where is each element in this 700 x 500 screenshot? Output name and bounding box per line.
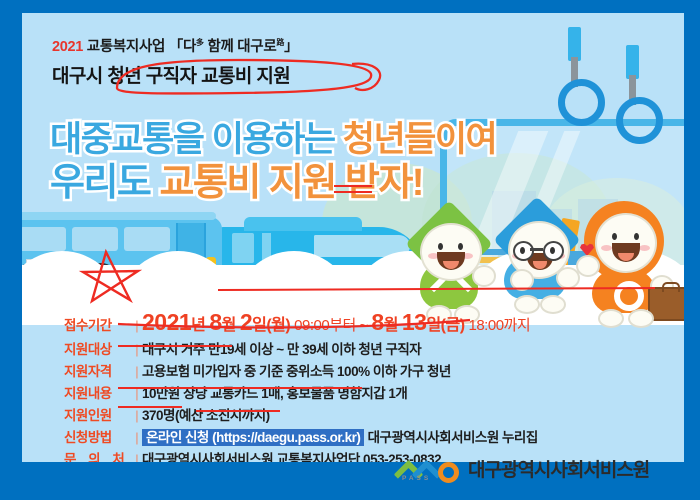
date-part: 09:00부터 ~	[294, 317, 371, 334]
date-part: 8	[371, 309, 383, 335]
info-row-value: 2021년 8월 2일(월) 09:00부터 ~ 8월 13일(금) 18:00…	[142, 309, 530, 336]
subtitle-prefix: 대구시	[52, 66, 107, 87]
glasses-icon	[510, 241, 566, 257]
info-row-label: 지원인원	[64, 404, 132, 424]
info-row-label: 지원대상	[64, 338, 132, 358]
info-row: 신청방법|온라인 신청 (https://daegu.pass.or.kr) 대…	[64, 426, 680, 446]
info-row: 지원대상|대구시 거주 만19세 이상 ~ 만 39세 이하 청년 구직자	[64, 338, 680, 358]
application-link-suffix: 대구광역시사회서비스원 누리집	[364, 430, 537, 445]
org-logo: PASS 대구광역시사회서비스원	[398, 455, 649, 482]
date-part: 일(월)	[252, 317, 294, 334]
info-row: 지원자격|고용보험 미가입자 중 기준 중위소득 100% 이하 가구 청년	[64, 360, 680, 380]
date-part: 월	[384, 317, 402, 334]
headline-block: 2021 교통복지사업 「다多 함께 대구로路」 대구시 청년 구직자 교통비 …	[52, 35, 652, 88]
eyebrow-text: 2021 교통복지사업 「다多 함께 대구로路」	[52, 35, 652, 56]
subtitle-text: 대구시 청년 구직자 교통비 지원	[52, 61, 652, 88]
eyebrow-quote-mid: 함께 대구로	[204, 39, 277, 55]
date-part: 2	[240, 309, 252, 335]
eyebrow-sup-1: 多	[196, 38, 204, 47]
date-part: 일(금)	[426, 317, 468, 334]
info-row-value: 대구시 거주 만19세 이상 ~ 만 39세 이하 청년 구직자	[142, 338, 421, 358]
date-part: 2021	[142, 309, 191, 335]
info-row: 지원내용|10만원 상당 교통카드 1매, 홍보물품 명함지갑 1개	[64, 382, 680, 402]
info-row-value: 370명(예산 소진시까지)	[142, 404, 270, 424]
eyebrow-quote-open: 「다	[169, 39, 196, 55]
info-row-value: 고용보험 미가입자 중 기준 중위소득 100% 이하 가구 청년	[142, 360, 451, 380]
info-row-label: 문 의 처	[64, 448, 132, 462]
info-row: 접수기간|2021년 8월 2일(월) 09:00부터 ~ 8월 13일(금) …	[64, 309, 680, 336]
org-name-text: 대구광역시사회서비스원	[468, 455, 649, 482]
info-row: 지원인원|370명(예산 소진시까지)	[64, 404, 680, 424]
info-row-label: 지원자격	[64, 360, 132, 380]
info-row-value: 10만원 상당 교통카드 1매, 홍보물품 명함지갑 1개	[142, 382, 407, 402]
info-row-label: 신청방법	[64, 426, 132, 446]
eyebrow-year: 2021	[52, 39, 83, 55]
date-part: 13	[402, 309, 427, 335]
info-row-value: 대구광역시사회서비스원 교통복지사업단 053-253-0832	[142, 448, 441, 462]
date-part: 월	[222, 317, 240, 334]
info-row-separator: |	[132, 386, 142, 401]
application-link[interactable]: 온라인 신청 (https://daegu.pass.or.kr)	[142, 429, 364, 446]
date-part: 18:00까지	[469, 317, 531, 334]
info-row-label: 지원내용	[64, 382, 132, 402]
info-row-separator: |	[132, 430, 142, 445]
eyebrow-quote-close: 」	[284, 39, 298, 55]
info-table: 접수기간|2021년 8월 2일(월) 09:00부터 ~ 8월 13일(금) …	[64, 309, 680, 462]
info-row-separator: |	[132, 364, 142, 379]
info-row-label: 접수기간	[64, 314, 132, 334]
pass-logo-icon: PASS	[398, 456, 464, 482]
info-row-value[interactable]: 온라인 신청 (https://daegu.pass.or.kr) 대구광역시사…	[142, 426, 538, 446]
poster-card: 2021 교통복지사업 「다多 함께 대구로路」 대구시 청년 구직자 교통비 …	[22, 13, 684, 462]
date-part: 년	[191, 317, 209, 334]
subtitle-circled: 청년 구직자 교통비 지원	[107, 66, 290, 87]
headline-line-2-part-a: 우리도	[50, 162, 159, 204]
eyebrow-rest: 교통복지사업	[83, 39, 169, 55]
headline-line-2-part-b: 교통비 지원 받자!	[159, 162, 423, 204]
eyebrow-sup-2: 路	[276, 38, 284, 47]
info-row-separator: |	[132, 452, 142, 462]
date-part: 8	[209, 309, 221, 335]
poster-root: 2021 교통복지사업 「다多 함께 대구로路」 대구시 청년 구직자 교통비 …	[0, 0, 700, 500]
pass-logo-text: PASS	[402, 475, 431, 482]
headline-line-2: 우리도 교통비 지원 받자!	[50, 151, 423, 206]
info-row-separator: |	[132, 408, 142, 423]
info-row-separator: |	[132, 318, 142, 333]
info-row-separator: |	[132, 342, 142, 357]
